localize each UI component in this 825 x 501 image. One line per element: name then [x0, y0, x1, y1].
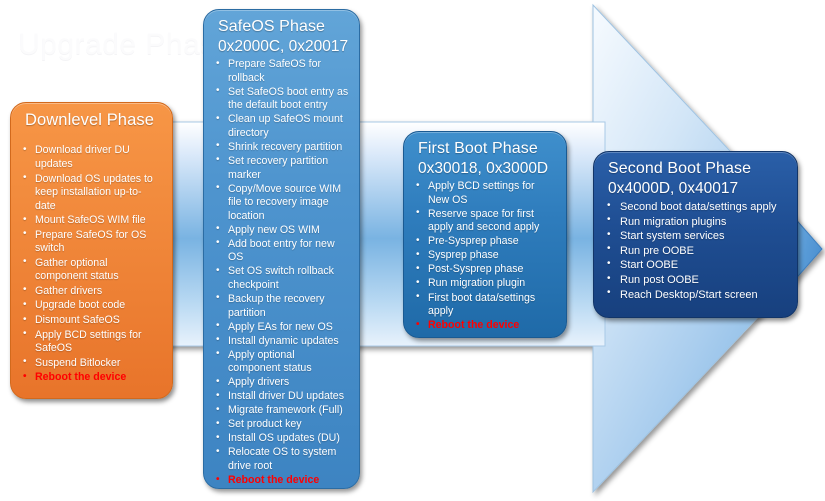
list-item: Download OS updates to keep installation… [21, 173, 162, 214]
list-item-reboot: Reboot the device [214, 474, 349, 488]
list-item: Suspend Bitlocker [21, 357, 162, 371]
list-item: Run migration plugin [414, 277, 556, 291]
list-item: Migrate framework (Full) [214, 404, 349, 418]
list-item: Prepare SafeOS for OS switch [21, 229, 162, 256]
list-item-reboot: Reboot the device [414, 319, 556, 333]
list-item: Second boot data/settings apply [604, 200, 787, 214]
phase-codes-safeos: 0x2000C, 0x20017 [218, 38, 349, 56]
phase-codes-first-boot: 0x30018, 0x3000D [418, 160, 556, 178]
list-item: Run pre OOBE [604, 244, 787, 258]
phase-box-second-boot[interactable]: Second Boot Phase 0x4000D, 0x40017 Secon… [593, 151, 798, 318]
list-item: Run migration plugins [604, 215, 787, 229]
phase-steps-safeos: Prepare SafeOS for rollback Set SafeOS b… [214, 58, 349, 487]
phase-title-second-boot: Second Boot Phase [608, 160, 787, 179]
phase-steps-downlevel: Download driver DU updates Download OS u… [21, 144, 162, 384]
phase-steps-first-boot: Apply BCD settings for New OS Reserve sp… [414, 180, 556, 333]
list-item: Pre-Sysprep phase [414, 235, 556, 249]
phase-steps-second-boot: Second boot data/settings apply Run migr… [604, 200, 787, 302]
list-item: Copy/Move source WIM file to recovery im… [214, 183, 349, 224]
list-item: Backup the recovery partition [214, 293, 349, 320]
list-item: Gather drivers [21, 285, 162, 299]
list-item: Run post OOBE [604, 273, 787, 287]
list-item: Gather optional component status [21, 257, 162, 284]
list-item: Reserve space for first apply and second… [414, 208, 556, 235]
list-item: Prepare SafeOS for rollback [214, 58, 349, 85]
list-item: Set product key [214, 418, 349, 432]
list-item: Dismount SafeOS [21, 314, 162, 328]
list-item: Post-Sysprep phase [414, 263, 556, 277]
list-item: Shrink recovery partition [214, 141, 349, 155]
list-item: Apply new OS WIM [214, 224, 349, 238]
phase-codes-second-boot: 0x4000D, 0x40017 [608, 180, 787, 198]
list-item: Apply drivers [214, 376, 349, 390]
list-item: Apply optional component status [214, 349, 349, 376]
phase-box-safeos[interactable]: SafeOS Phase 0x2000C, 0x20017 Prepare Sa… [203, 9, 360, 489]
phase-title-first-boot: First Boot Phase [418, 140, 556, 159]
phase-box-downlevel[interactable]: Downlevel Phase Download driver DU updat… [10, 102, 173, 399]
phase-title-safeos: SafeOS Phase [218, 18, 349, 37]
list-item: Set recovery partition marker [214, 155, 349, 182]
list-item: Upgrade boot code [21, 299, 162, 313]
list-item: Install dynamic updates [214, 335, 349, 349]
list-item: Start system services [604, 229, 787, 243]
list-item: Set SafeOS boot entry as the default boo… [214, 86, 349, 113]
list-item: Install driver DU updates [214, 390, 349, 404]
list-item: Apply BCD settings for New OS [414, 180, 556, 207]
list-item: Install OS updates (DU) [214, 432, 349, 446]
list-item: Mount SafeOS WIM file [21, 214, 162, 228]
list-item: Relocate OS to system drive root [214, 446, 349, 473]
list-item: Start OOBE [604, 258, 787, 272]
list-item: Apply EAs for new OS [214, 321, 349, 335]
phase-box-first-boot[interactable]: First Boot Phase 0x30018, 0x3000D Apply … [403, 131, 567, 338]
list-item: Sysprep phase [414, 249, 556, 263]
list-item: Apply BCD settings for SafeOS [21, 329, 162, 356]
list-item: Clean up SafeOS mount directory [214, 113, 349, 140]
list-item-reboot: Reboot the device [21, 371, 162, 385]
list-item: Add boot entry for new OS [214, 238, 349, 265]
diagram-canvas: Upgrade Phases [0, 0, 825, 501]
list-item: Set OS switch rollback checkpoint [214, 265, 349, 292]
list-item: Download driver DU updates [21, 144, 162, 171]
phase-title-downlevel: Downlevel Phase [25, 111, 162, 130]
list-item: First boot data/settings apply [414, 292, 556, 319]
list-item: Reach Desktop/Start screen [604, 288, 787, 302]
